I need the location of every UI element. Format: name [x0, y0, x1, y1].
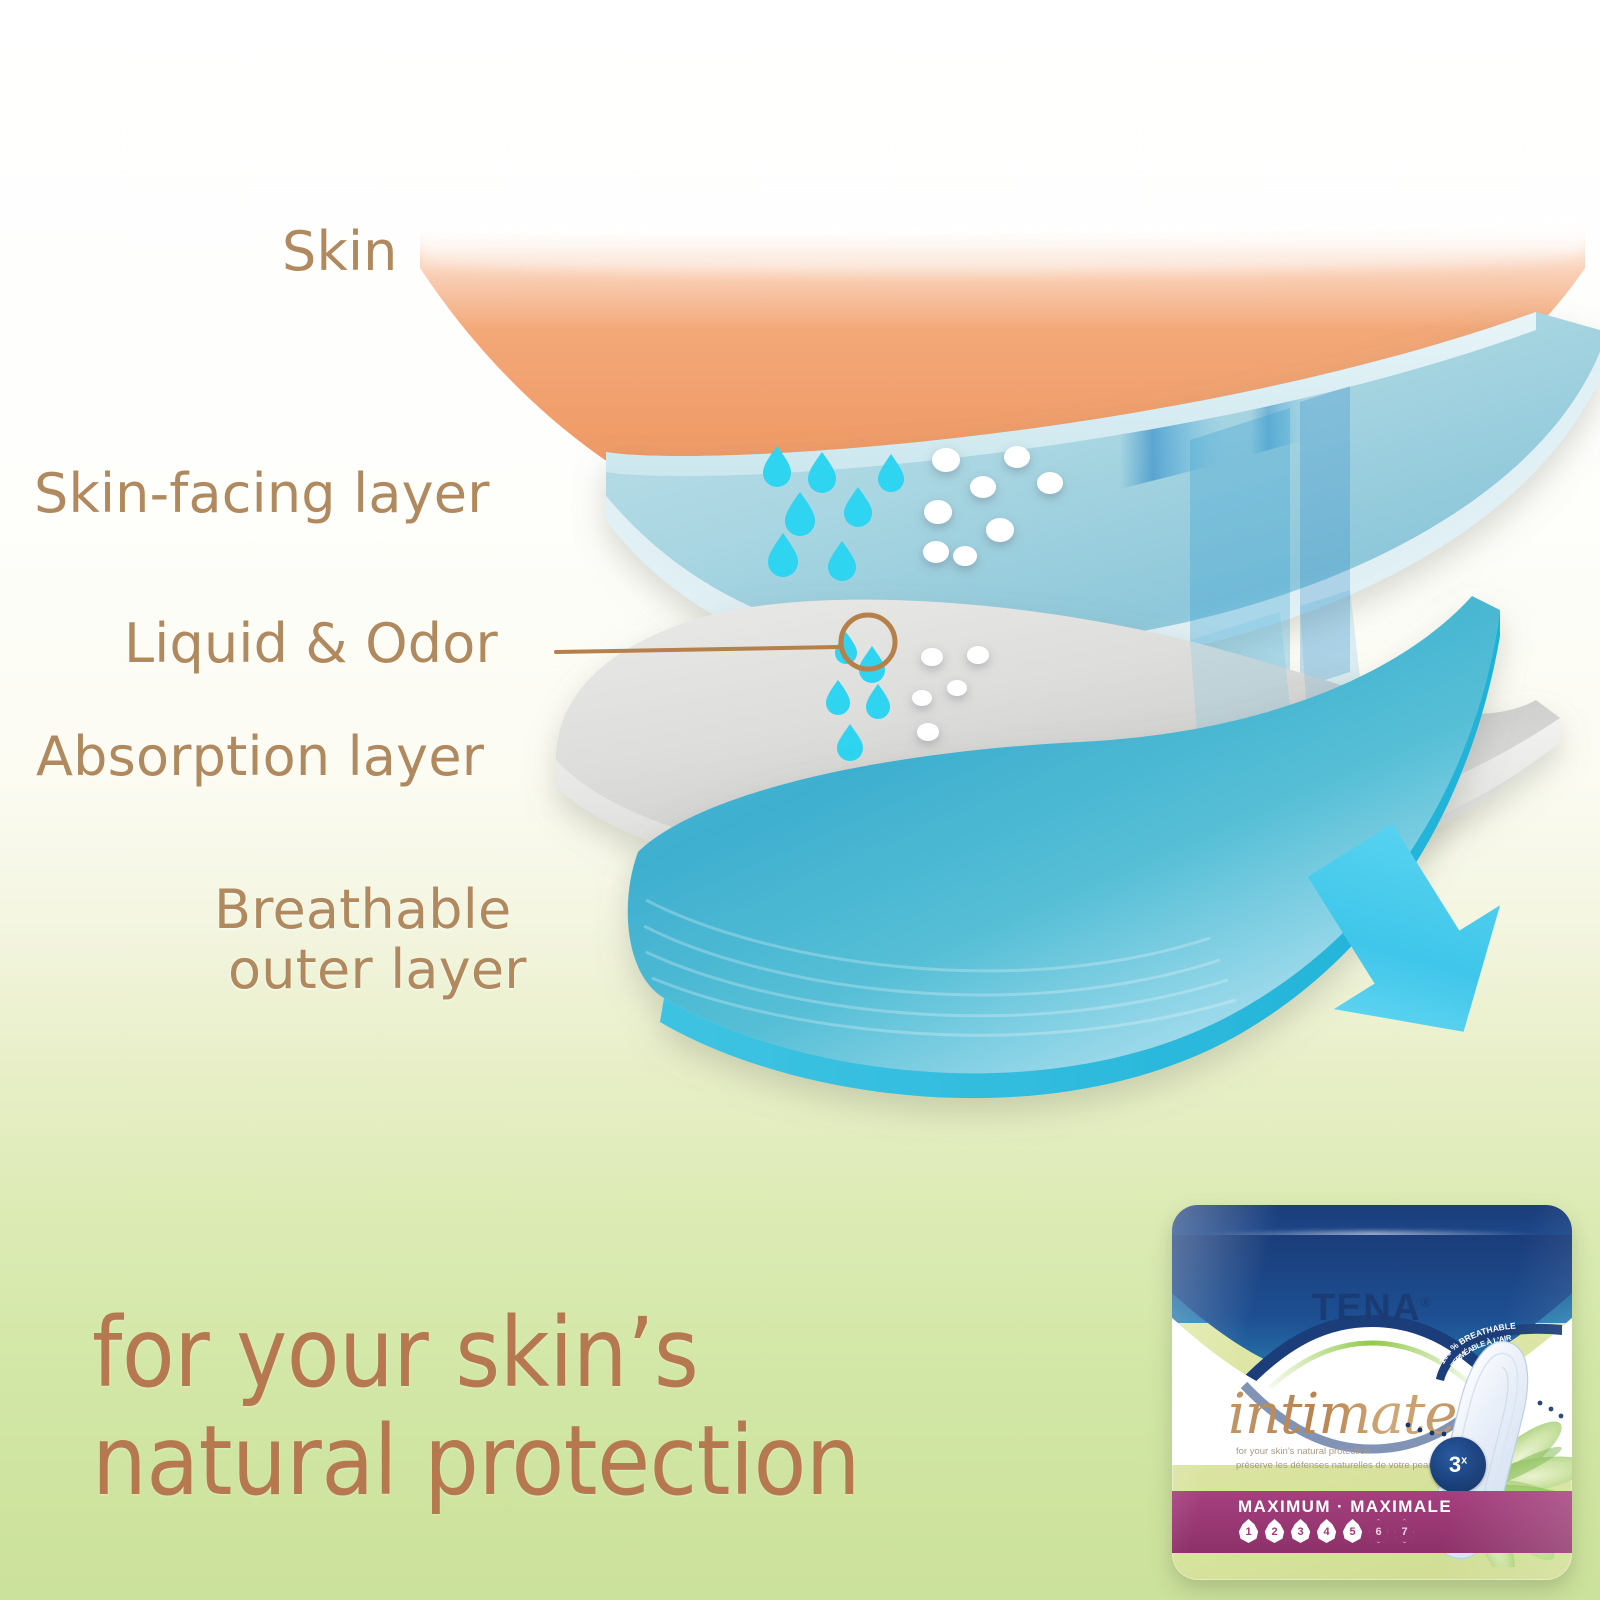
absorbency-level-3: 3: [1290, 1519, 1311, 1543]
label-liquid-and-odor: Liquid & Odor: [124, 612, 498, 675]
label-breathable-line2: outer layer: [228, 940, 644, 1000]
label-breathable-line1: Breathable: [214, 878, 511, 941]
breathable-badge: 100 % BREATHABLE PERMÉABLE À L’AIR: [1434, 1321, 1564, 1383]
absorbency-level-2: 2: [1264, 1519, 1285, 1543]
tagline-line1: for your skin’s: [92, 1297, 698, 1409]
absorbency-level-4: 4: [1316, 1519, 1337, 1543]
tagline-line2: natural protection: [92, 1408, 1102, 1516]
absorbency-level-1: 1: [1238, 1519, 1259, 1543]
absorbency-droplet-scale: 1 2 3 4 5 6 7: [1238, 1519, 1415, 1543]
protection-badge: 3x: [1430, 1437, 1486, 1493]
product-package[interactable]: TENA® intimates® for your skin’s natural…: [1172, 1205, 1572, 1580]
tagline: for your skin’s natural protection: [92, 1300, 1102, 1515]
absorbency-label: MAXIMUM · MAXIMALE: [1172, 1497, 1572, 1517]
infographic-canvas: Skin Skin-facing layer Liquid & Odor Abs…: [0, 0, 1600, 1600]
label-skin-facing-layer: Skin-facing layer: [34, 462, 490, 525]
absorbency-level-5: 5: [1342, 1519, 1363, 1543]
absorbency-level-6: 6: [1368, 1519, 1389, 1543]
absorbency-band: MAXIMUM · MAXIMALE 1 2 3 4 5 6 7: [1172, 1491, 1572, 1553]
label-absorption-layer: Absorption layer: [36, 725, 484, 788]
protection-badge-value: 3x: [1449, 1452, 1467, 1478]
label-skin: Skin: [282, 220, 398, 283]
absorbency-level-7: 7: [1394, 1519, 1415, 1543]
label-breathable-outer-layer: Breathable outer layer: [214, 880, 644, 1001]
